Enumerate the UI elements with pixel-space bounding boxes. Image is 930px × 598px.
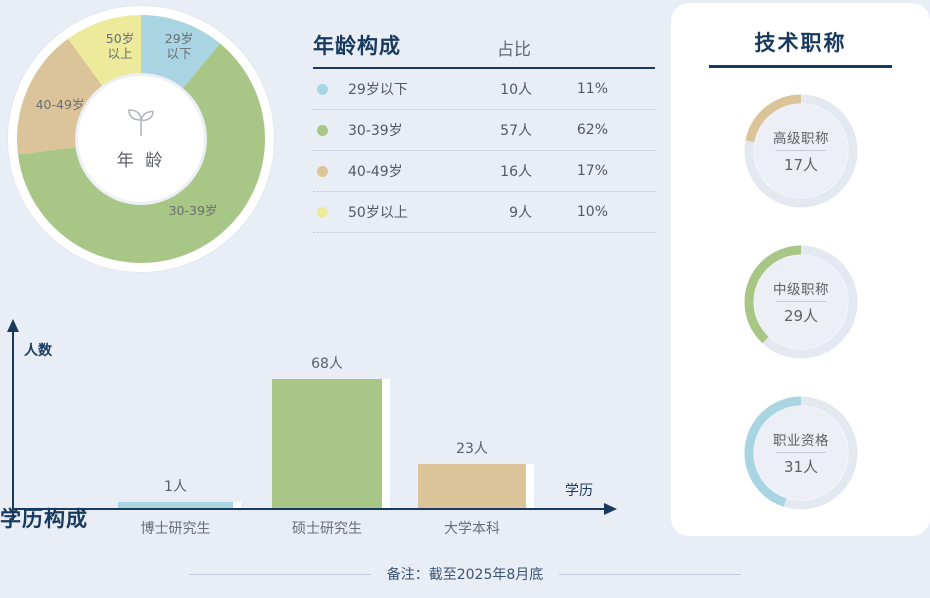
legend-row-name: 50岁以上 — [348, 202, 466, 222]
bar-category-label: 博士研究生 — [118, 518, 233, 538]
technical-titles-divider — [709, 65, 892, 68]
gauge-value: 29人 — [784, 302, 818, 326]
gauge-value: 17人 — [784, 151, 818, 175]
footer-rule-left — [189, 574, 371, 575]
legend-row-name: 40-49岁 — [348, 161, 466, 181]
bar-category-label: 大学本科 — [418, 518, 526, 538]
technical-titles-card: 技术职称 高级职称17人中级职称29人职业资格31人 — [671, 3, 930, 536]
legend-color-dot — [317, 84, 328, 95]
bar-value-label: 23人 — [418, 438, 526, 458]
technical-titles-title: 技术职称 — [671, 27, 930, 57]
gauge-inner: 中级职称29人 — [754, 255, 848, 349]
legend-rows: 29岁以下10人11%30-39岁57人62%40-49岁16人17%50岁以上… — [313, 69, 655, 233]
x-axis-arrow — [604, 503, 617, 515]
legend-title: 年龄构成 — [313, 30, 401, 60]
bar-rect — [418, 464, 526, 508]
bar-item[interactable]: 1人博士研究生 — [118, 500, 233, 508]
bar-category-label: 硕士研究生 — [272, 518, 382, 538]
legend-row-percent: 11% — [532, 81, 608, 97]
gauge-inner: 职业资格31人 — [754, 406, 848, 500]
legend-header: 年龄构成 占比 — [313, 22, 655, 60]
bar-item[interactable]: 23人大学本科 — [418, 462, 526, 508]
bar-value-label: 68人 — [272, 353, 382, 373]
x-axis-line — [12, 508, 606, 510]
donut-center-hub: 年 龄 — [78, 76, 204, 202]
legend-color-dot — [317, 207, 328, 218]
legend-row-name: 30-39岁 — [348, 120, 466, 140]
y-axis-label: 人数 — [24, 340, 52, 360]
donut-center-label: 年 龄 — [117, 146, 165, 171]
sprout-icon — [124, 107, 158, 142]
bar-value-label: 1人 — [118, 476, 233, 496]
legend-row[interactable]: 50岁以上9人10% — [313, 192, 655, 233]
age-donut-chart: 29岁 以下 30-39岁 40-49岁 50岁 以上 年 龄 — [8, 6, 274, 272]
gauge-name: 职业资格 — [773, 429, 829, 452]
legend-row-count: 10人 — [466, 79, 532, 99]
legend-row[interactable]: 29岁以下10人11% — [313, 69, 655, 110]
legend-ratio-header: 占比 — [497, 35, 531, 60]
x-axis-label: 学历 — [565, 480, 593, 500]
bar-item[interactable]: 68人硕士研究生 — [272, 377, 382, 508]
footer-text: 备注：截至2025年8月底 — [371, 564, 560, 584]
gauge-ring-2[interactable]: 职业资格31人 — [740, 392, 862, 514]
bar-rect — [272, 379, 382, 508]
gauge-inner: 高级职称17人 — [754, 104, 848, 198]
gauge-value: 31人 — [784, 453, 818, 477]
bar-rect — [118, 502, 233, 508]
gauge-name: 中级职称 — [773, 278, 829, 301]
footer-note: 备注：截至2025年8月底 — [0, 564, 930, 584]
gauge-ring-0[interactable]: 高级职称17人 — [740, 90, 862, 212]
legend-row-count: 9人 — [466, 202, 532, 222]
legend-row[interactable]: 40-49岁16人17% — [313, 151, 655, 192]
y-axis-line — [12, 330, 14, 520]
age-legend-panel: 年龄构成 占比 29岁以下10人11%30-39岁57人62%40-49岁16人… — [313, 22, 655, 233]
legend-row-name: 29岁以下 — [348, 79, 466, 99]
dashboard-root: 29岁 以下 30-39岁 40-49岁 50岁 以上 年 龄 年 — [0, 0, 930, 598]
legend-row-percent: 17% — [532, 163, 608, 179]
gauge-ring-1[interactable]: 中级职称29人 — [740, 241, 862, 363]
gauge-name: 高级职称 — [773, 127, 829, 150]
legend-color-dot — [317, 166, 328, 177]
legend-color-dot — [317, 125, 328, 136]
footer-rule-right — [559, 574, 741, 575]
legend-row-percent: 62% — [532, 122, 608, 138]
education-bar-chart: 人数 学历 1人博士研究生68人硕士研究生23人大学本科 — [0, 318, 650, 538]
legend-row-count: 16人 — [466, 161, 532, 181]
legend-row[interactable]: 30-39岁57人62% — [313, 110, 655, 151]
education-section-title: 学历构成 — [0, 503, 88, 533]
legend-row-count: 57人 — [466, 120, 532, 140]
legend-row-percent: 10% — [532, 204, 608, 220]
